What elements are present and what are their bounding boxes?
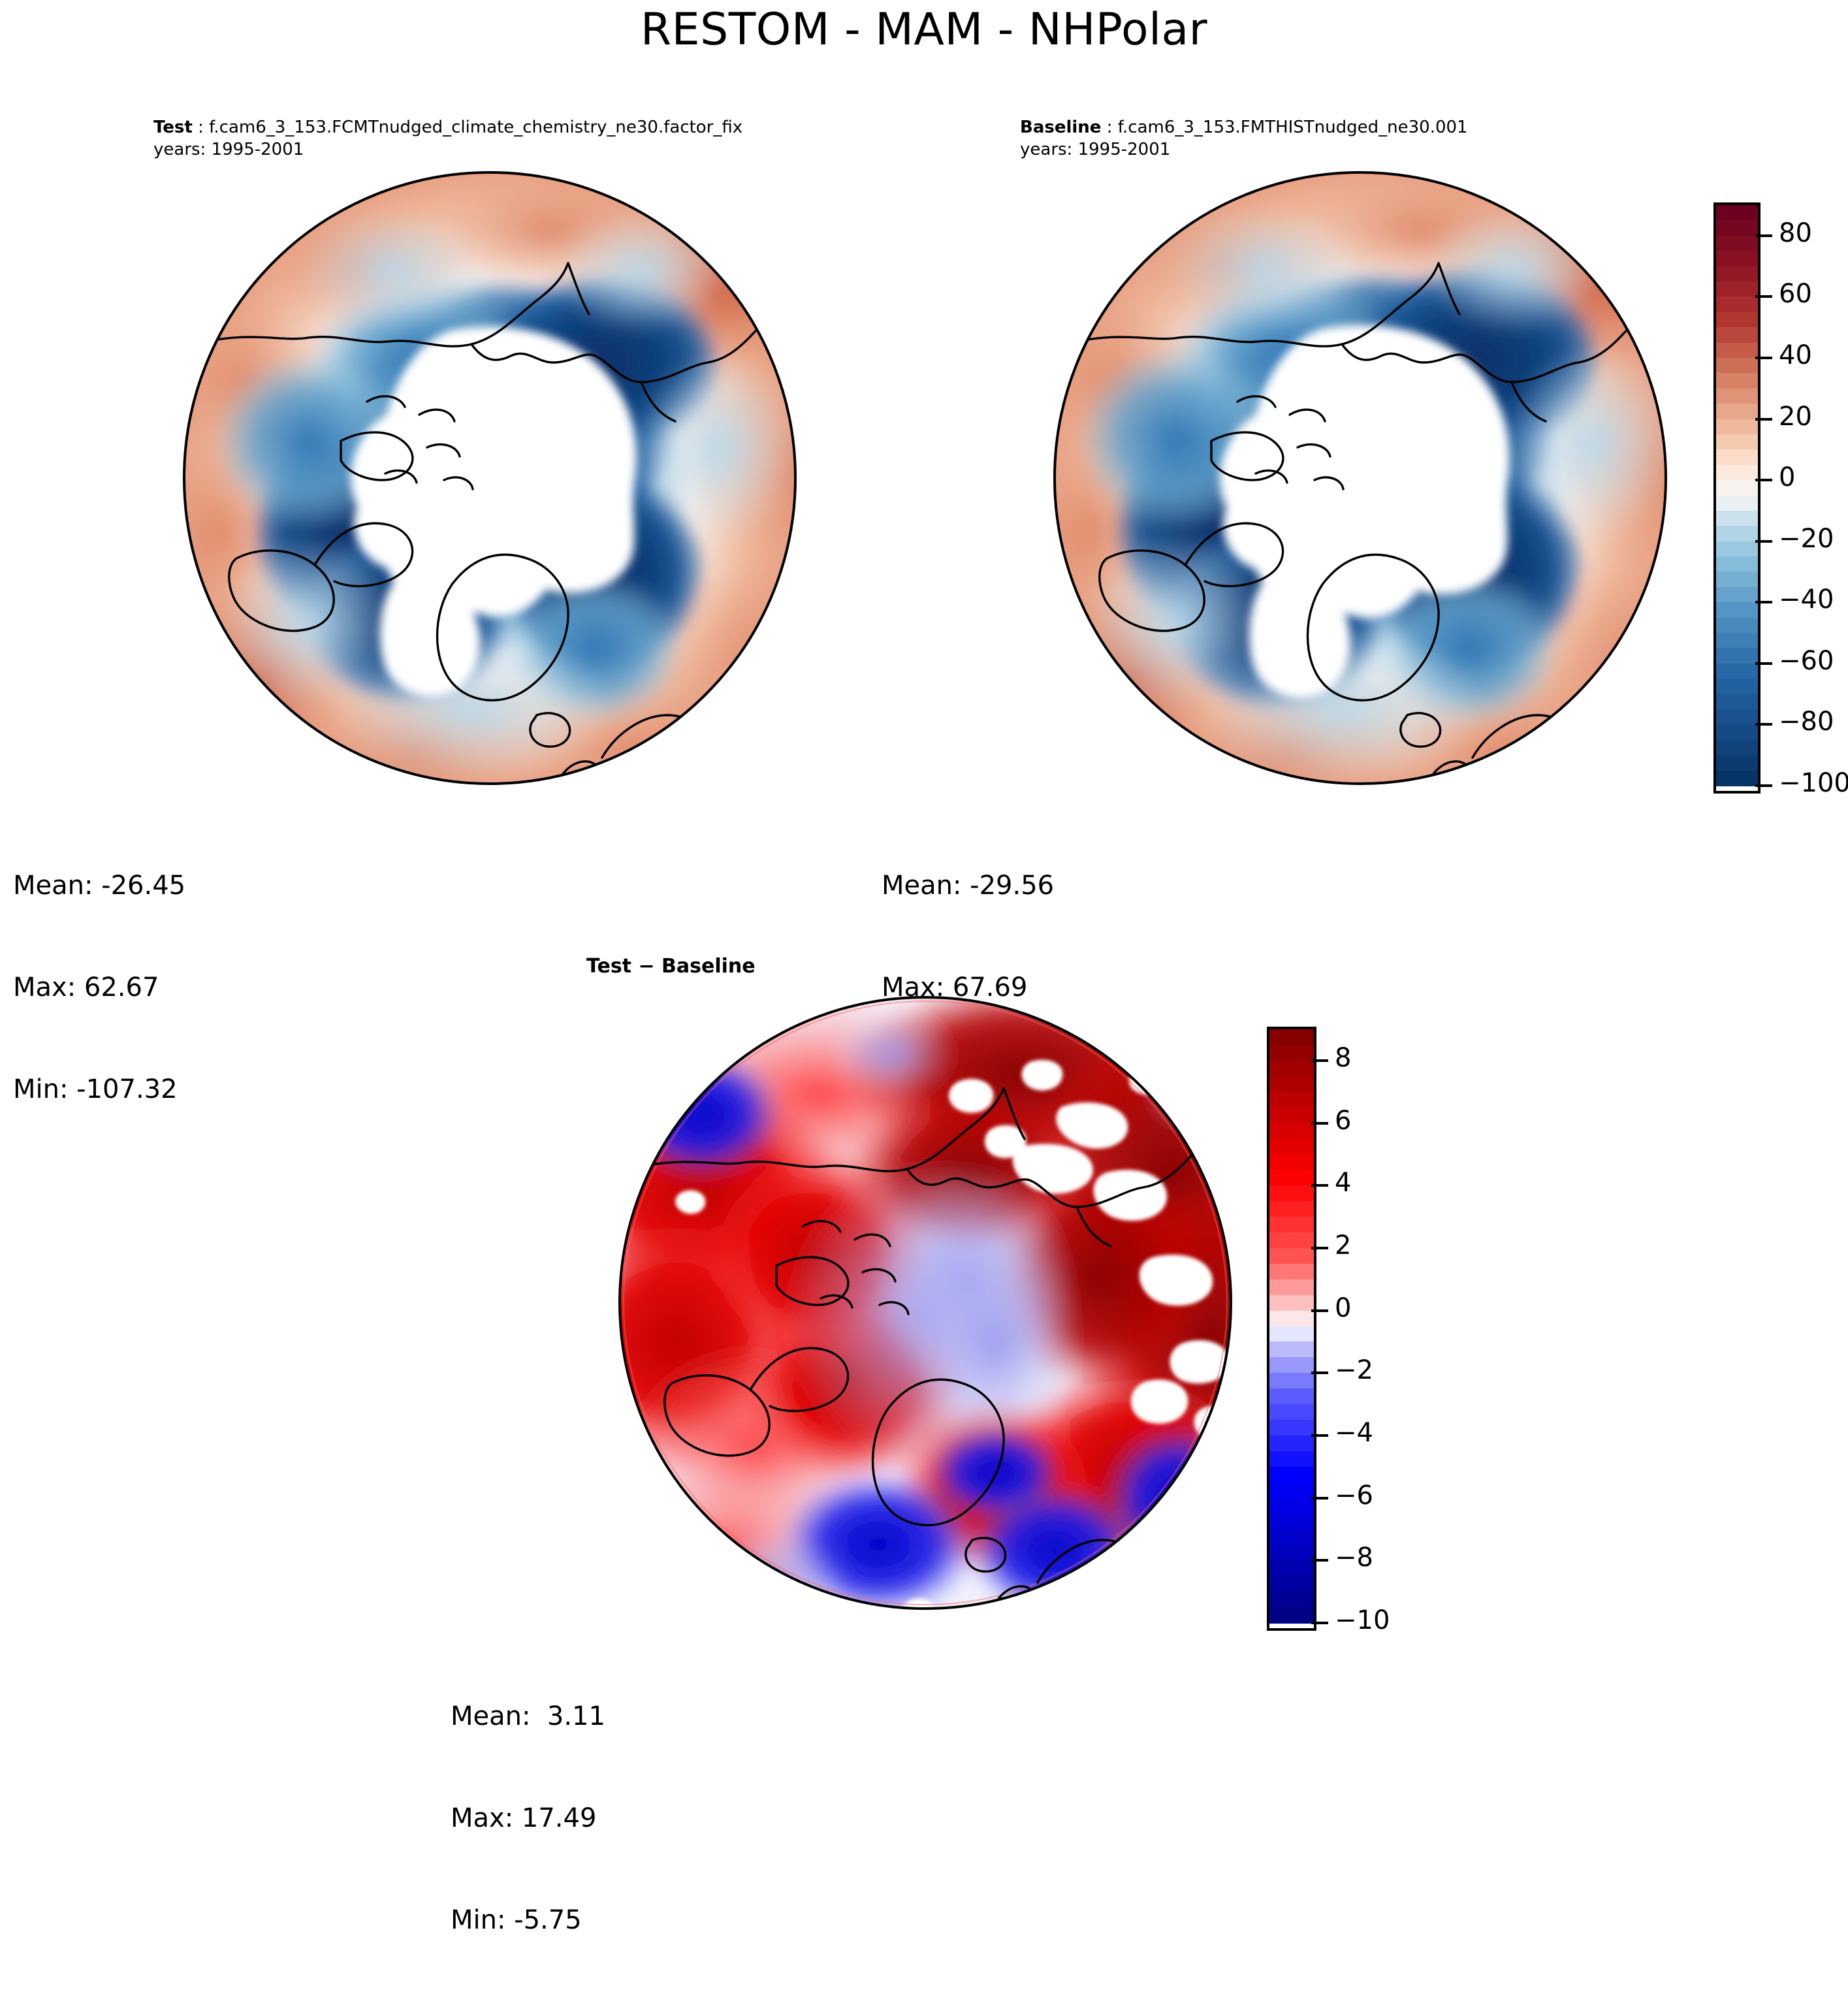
test-role-label: Test — [153, 118, 193, 137]
difference-colorbar[interactable]: 86420−2−4−6−8−10 — [1267, 1027, 1410, 1634]
colorbar-tick-label: −40 — [1779, 585, 1834, 615]
colorbar-tick-label: −100 — [1779, 768, 1848, 798]
colorbar-tick-mark — [1755, 479, 1772, 481]
test-case-name: f.cam6_3_153.FCMTnudged_climate_chemistr… — [209, 118, 742, 137]
colorbar-tick-mark — [1755, 540, 1772, 543]
baseline-case-name: f.cam6_3_153.FMTHISTnudged_ne30.001 — [1118, 118, 1468, 137]
test-polar-map — [145, 167, 857, 794]
colorbar-tick-label: −2 — [1335, 1355, 1373, 1385]
colorbar-tick-label: −10 — [1335, 1605, 1390, 1635]
difference-stat-max: Max: 17.49 — [451, 1801, 605, 1835]
test-stat-min: Min: -107.32 — [13, 1072, 185, 1106]
colorbar-tick-label: −6 — [1335, 1481, 1373, 1511]
colorbar-tick-mark — [1755, 295, 1772, 298]
colorbar-tick-label: 60 — [1779, 279, 1812, 309]
test-separator: : — [193, 118, 209, 137]
colorbar-tick-label: 0 — [1779, 462, 1795, 492]
colorbar-tick-mark — [1311, 1309, 1328, 1312]
colorbar-tick-mark — [1755, 418, 1772, 421]
colorbar-tick-label: −20 — [1779, 524, 1834, 554]
difference-colorbar-ticks: 86420−2−4−6−8−10 — [1267, 1027, 1410, 1631]
colorbar-tick-mark — [1755, 357, 1772, 359]
colorbar-tick-label: 40 — [1779, 340, 1812, 370]
difference-stat-mean: Mean: 3.11 — [451, 1699, 605, 1733]
colorbar-tick-mark — [1311, 1059, 1328, 1062]
baseline-role-label: Baseline — [1020, 118, 1101, 137]
colorbar-tick-label: −80 — [1779, 707, 1834, 737]
colorbar-tick-label: 2 — [1335, 1230, 1351, 1260]
colorbar-tick-mark — [1755, 234, 1772, 237]
test-stats-block: Mean: -26.45 Max: 62.67 Min: -107.32 — [13, 801, 185, 1174]
main-colorbar-ticks: 806040200−20−40−60−80−100 — [1713, 202, 1844, 794]
colorbar-tick-mark — [1755, 723, 1772, 726]
page-title: RESTOM - MAM - NHPolar — [0, 4, 1848, 56]
colorbar-tick-label: 80 — [1779, 218, 1812, 248]
colorbar-tick-mark — [1311, 1434, 1328, 1437]
colorbar-tick-label: 8 — [1335, 1043, 1351, 1073]
colorbar-tick-label: −60 — [1779, 646, 1834, 676]
colorbar-tick-mark — [1311, 1184, 1328, 1187]
difference-stats-block: Mean: 3.11 Max: 17.49 Min: -5.75 — [451, 1631, 605, 2005]
colorbar-tick-mark — [1311, 1371, 1328, 1374]
difference-polar-map — [604, 976, 1257, 1636]
difference-map-field — [604, 976, 1257, 1636]
baseline-stat-mean: Mean: -29.56 — [882, 869, 1054, 903]
colorbar-tick-label: 20 — [1779, 402, 1812, 432]
colorbar-tick-label: −4 — [1335, 1418, 1373, 1448]
colorbar-tick-mark — [1311, 1622, 1328, 1624]
baseline-polar-map — [1015, 167, 1727, 794]
colorbar-tick-mark — [1311, 1559, 1328, 1562]
baseline-separator: : — [1101, 118, 1117, 137]
colorbar-tick-label: 0 — [1335, 1293, 1351, 1323]
colorbar-tick-mark — [1311, 1122, 1328, 1125]
test-stat-mean: Mean: -26.45 — [13, 869, 185, 903]
colorbar-tick-mark — [1311, 1247, 1328, 1249]
baseline-case-header: Baseline : f.cam6_3_153.FMTHISTnudged_ne… — [1020, 116, 1468, 161]
test-years-label: years: 1995-2001 — [153, 138, 742, 161]
colorbar-tick-label: −8 — [1335, 1543, 1373, 1573]
colorbar-tick-mark — [1755, 601, 1772, 603]
difference-stat-min: Min: -5.75 — [451, 1903, 605, 1937]
colorbar-tick-label: 6 — [1335, 1106, 1351, 1136]
colorbar-tick-mark — [1311, 1497, 1328, 1500]
colorbar-tick-mark — [1755, 784, 1772, 787]
figure-canvas: RESTOM - MAM - NHPolar Test : f.cam6_3_1… — [0, 0, 1848, 1742]
colorbar-tick-mark — [1755, 662, 1772, 665]
main-colorbar[interactable]: 806040200−20−40−60−80−100 — [1713, 202, 1844, 797]
colorbar-tick-label: 4 — [1335, 1168, 1351, 1198]
difference-panel-title: Test − Baseline — [586, 955, 756, 978]
baseline-years-label: years: 1995-2001 — [1020, 138, 1468, 161]
test-case-header: Test : f.cam6_3_153.FCMTnudged_climate_c… — [153, 116, 742, 161]
test-stat-max: Max: 62.67 — [13, 970, 185, 1004]
